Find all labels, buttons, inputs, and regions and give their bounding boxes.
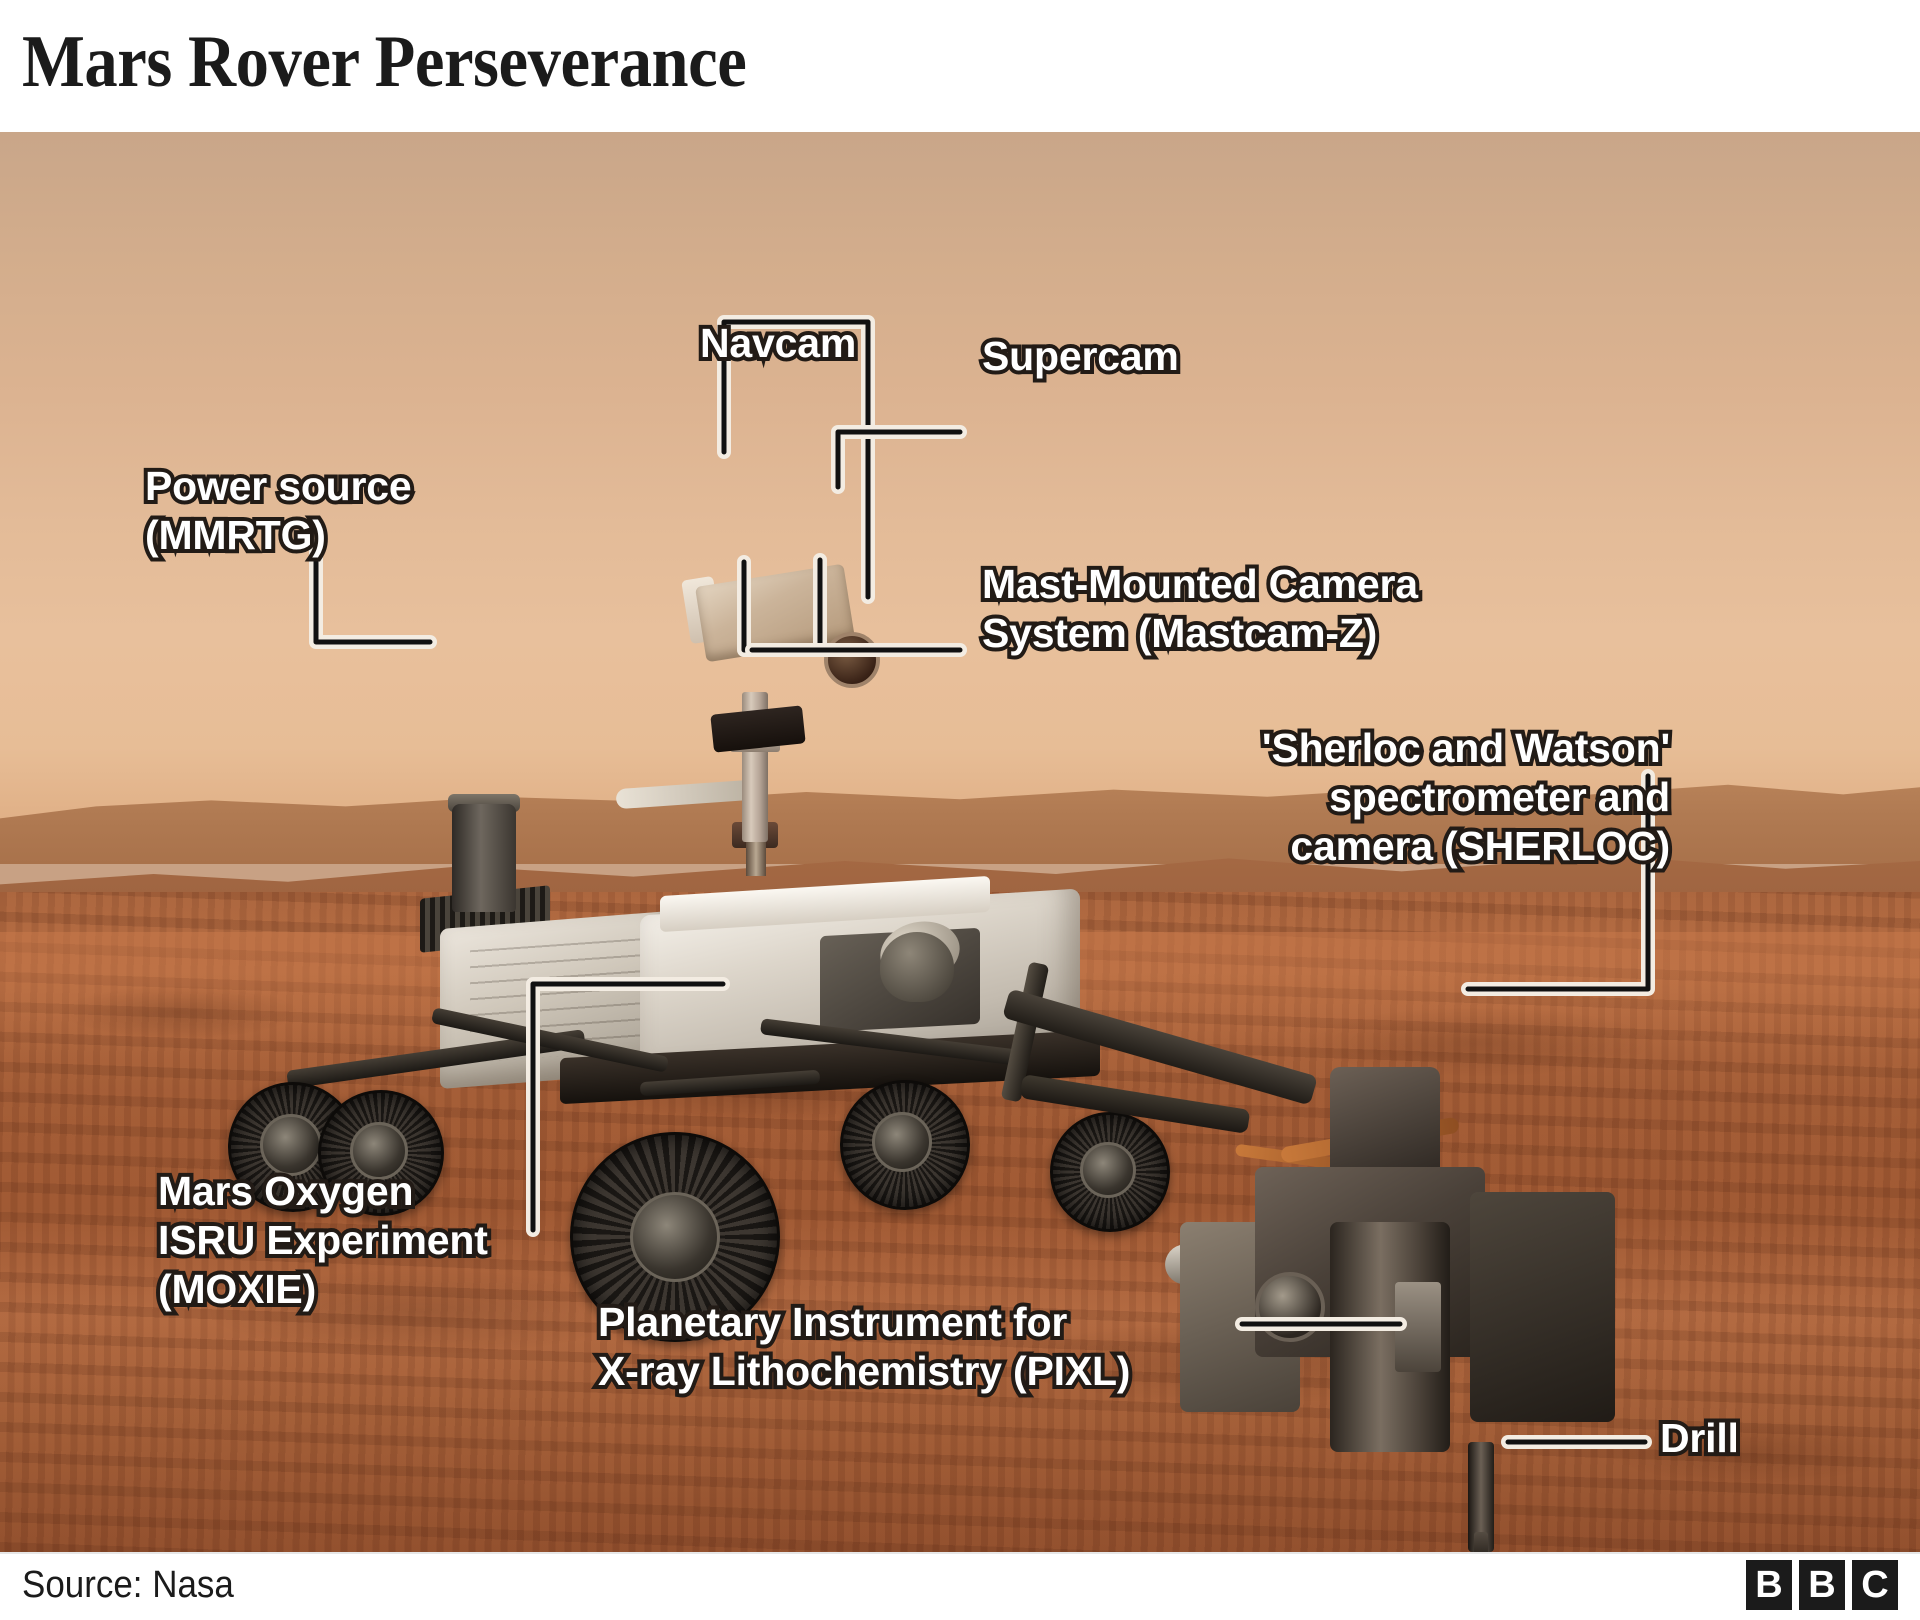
- bbc-logo-letter-3: C: [1852, 1560, 1898, 1610]
- label-navcam: Navcam: [700, 319, 856, 368]
- header: Mars Rover Perseverance: [0, 0, 1920, 132]
- label-sherloc: 'Sherloc and Watson' spectrometer and ca…: [1150, 724, 1670, 871]
- rover-illustration: Navcam Supercam Mast-Mounted Camera Syst…: [0, 132, 1920, 1552]
- footer-divider: [0, 1552, 1920, 1554]
- bbc-logo: B B C: [1746, 1560, 1898, 1610]
- label-power-source: Power source (MMRTG): [145, 462, 411, 560]
- page-title: Mars Rover Perseverance: [22, 22, 746, 102]
- label-drill: Drill: [1660, 1414, 1739, 1463]
- label-pixl: Planetary Instrument for X-ray Lithochem…: [598, 1298, 1130, 1396]
- footer: Source: Nasa B B C: [0, 1552, 1920, 1620]
- infographic-page: Mars Rover Perseverance: [0, 0, 1920, 1620]
- annotation-layer: Navcam Supercam Mast-Mounted Camera Syst…: [0, 132, 1920, 1552]
- label-supercam: Supercam: [982, 332, 1179, 381]
- bbc-logo-letter-2: B: [1799, 1560, 1845, 1610]
- label-mastcam-z: Mast-Mounted Camera System (Mastcam-Z): [982, 560, 1418, 658]
- bbc-logo-letter-1: B: [1746, 1560, 1792, 1610]
- label-moxie: Mars Oxygen ISRU Experiment (MOXIE): [158, 1167, 488, 1314]
- source-credit: Source: Nasa: [22, 1562, 234, 1608]
